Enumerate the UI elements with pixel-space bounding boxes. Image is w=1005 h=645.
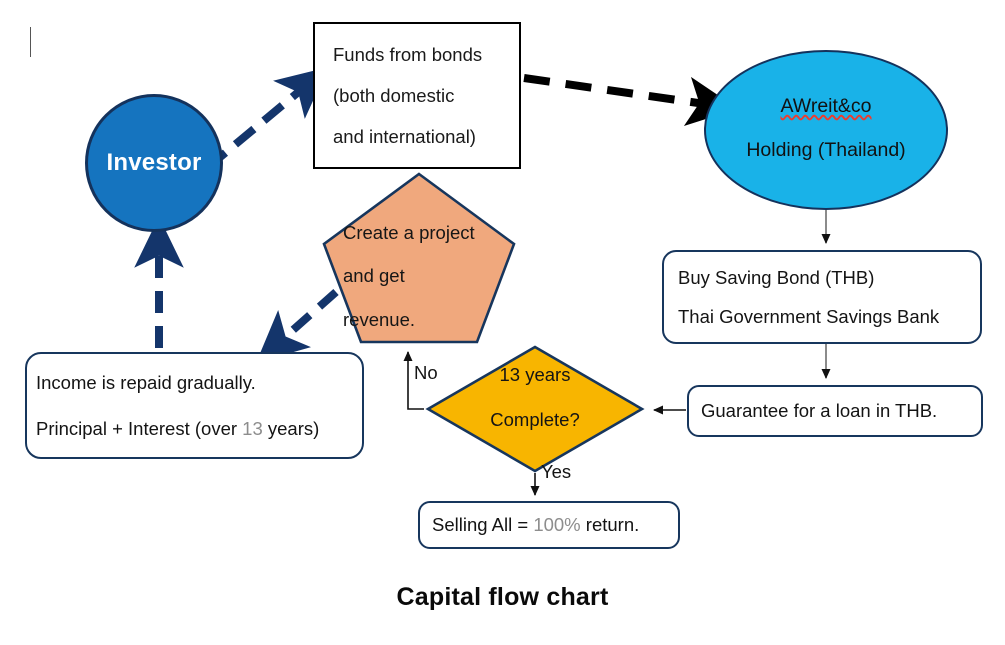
node-investor[interactable]: Investor <box>85 94 223 232</box>
node-investor-label: Investor <box>107 149 202 177</box>
node-selling-suffix: return. <box>581 514 640 535</box>
node-funds-line-2: (both domestic <box>333 85 454 106</box>
flowchart-canvas: Investor Funds from bonds (both domestic… <box>0 0 1005 645</box>
text-cursor-mark <box>30 27 31 57</box>
node-buy-saving-bond[interactable]: Buy Saving Bond (THB) Thai Government Sa… <box>662 250 982 344</box>
node-pentagon-line-2: and get <box>343 265 521 286</box>
node-pentagon-line-1: Create a project <box>343 222 521 243</box>
node-pentagon-line-3: revenue. <box>343 309 521 330</box>
node-income-term-years: 13 <box>242 418 263 439</box>
node-income-line-2-prefix: Principal + Interest (over <box>36 418 242 439</box>
node-holding-line-2: Holding (Thailand) <box>746 139 905 161</box>
node-pentagon-text: Create a project and get revenue. <box>343 222 521 352</box>
node-diamond-line-2: Complete? <box>425 409 645 430</box>
edge-label-no: No <box>414 362 438 384</box>
node-diamond-line-1: 13 years <box>425 364 645 385</box>
node-guarantee-label: Guarantee for a loan in THB. <box>701 400 937 421</box>
node-funds-line-3: and international) <box>333 126 476 147</box>
chart-title: Capital flow chart <box>0 583 1005 612</box>
node-selling-prefix: Selling All = <box>432 514 533 535</box>
node-funds-from-bonds[interactable]: Funds from bonds (both domestic and inte… <box>313 22 521 169</box>
node-income-line-2-suffix: years) <box>263 418 320 439</box>
node-selling-all[interactable]: Selling All = 100% return. <box>418 501 680 549</box>
node-selling-label: Selling All = 100% return. <box>432 514 639 535</box>
node-awreit-holding[interactable]: AWreit&co Holding (Thailand) <box>704 50 948 210</box>
node-holding-line-1: AWreit&co <box>780 95 871 117</box>
node-decision-13-years[interactable]: 13 years Complete? <box>425 344 645 474</box>
edge-funds-to-holding <box>524 78 712 105</box>
node-income-line-2: Principal + Interest (over 13 years) <box>36 418 319 439</box>
node-diamond-text: 13 years Complete? <box>425 364 645 455</box>
edge-label-yes: Yes <box>541 461 571 483</box>
node-bond-line-1: Buy Saving Bond (THB) <box>678 267 874 288</box>
node-create-project[interactable]: Create a project and get revenue. <box>321 170 517 347</box>
node-guarantee-loan[interactable]: Guarantee for a loan in THB. <box>687 385 983 437</box>
node-income-repaid[interactable]: Income is repaid gradually. Principal + … <box>25 352 364 459</box>
node-income-line-1: Income is repaid gradually. <box>36 372 256 393</box>
node-funds-line-1: Funds from bonds <box>333 44 482 65</box>
node-bond-line-2: Thai Government Savings Bank <box>678 306 939 327</box>
node-selling-return-pct: 100% <box>533 514 580 535</box>
